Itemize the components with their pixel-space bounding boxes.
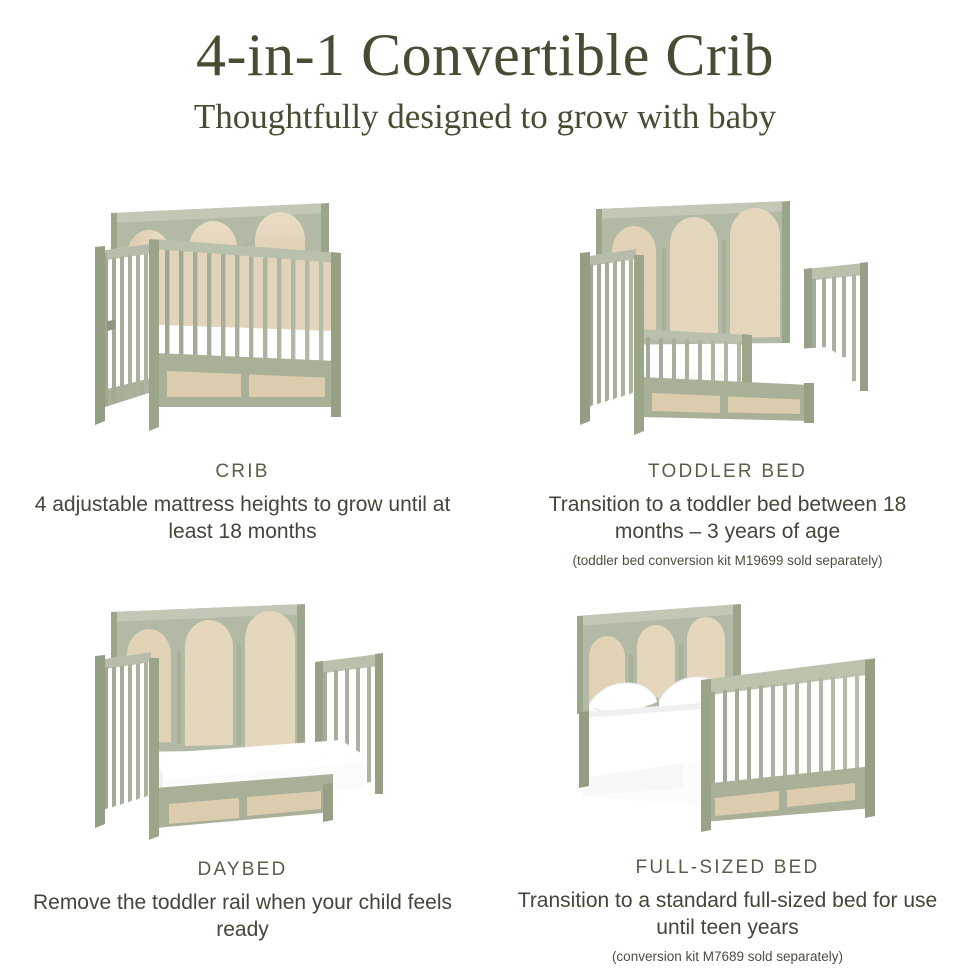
toddler-left-side-rail bbox=[582, 249, 636, 413]
description-full-sized-bed: Transition to a standard full-sized bed … bbox=[513, 887, 943, 941]
crib-illustration bbox=[93, 195, 393, 450]
full-sized-bed-illustration bbox=[563, 596, 893, 846]
note-full-sized-bed: (conversion kit M7689 sold separately) bbox=[513, 947, 943, 966]
header: 4-in-1 Convertible Crib Thoughtfully des… bbox=[0, 0, 970, 138]
daybed-figure bbox=[0, 586, 485, 848]
crib-figure bbox=[0, 188, 485, 450]
full-bed-footboard bbox=[701, 658, 875, 832]
configuration-grid: CRIB 4 adjustable mattress heights to gr… bbox=[0, 188, 970, 966]
description-crib: 4 adjustable mattress heights to grow un… bbox=[28, 491, 458, 545]
full-bed-legs bbox=[579, 711, 589, 788]
page-title: 4-in-1 Convertible Crib bbox=[0, 22, 970, 88]
note-toddler-bed: (toddler bed conversion kit M19699 sold … bbox=[513, 551, 943, 570]
description-toddler-bed: Transition to a toddler bed between 18 m… bbox=[513, 491, 943, 545]
label-daybed: DAYBED bbox=[28, 858, 458, 882]
toddler-bed-figure bbox=[485, 188, 970, 450]
config-cell-toddler-bed: TODDLER BED Transition to a toddler bed … bbox=[485, 188, 970, 586]
caption-full-sized-bed: FULL-SIZED BED Transition to a standard … bbox=[513, 856, 943, 966]
label-full-sized-bed: FULL-SIZED BED bbox=[513, 856, 943, 880]
caption-daybed: DAYBED Remove the toddler rail when your… bbox=[28, 858, 458, 943]
label-toddler-bed: TODDLER BED bbox=[513, 460, 943, 484]
description-daybed: Remove the toddler rail when your child … bbox=[28, 889, 458, 943]
crib-front-rail bbox=[153, 239, 339, 407]
infographic-page: 4-in-1 Convertible Crib Thoughtfully des… bbox=[0, 0, 970, 971]
config-cell-daybed: DAYBED Remove the toddler rail when your… bbox=[0, 586, 485, 966]
config-cell-crib: CRIB 4 adjustable mattress heights to gr… bbox=[0, 188, 485, 586]
daybed-illustration bbox=[93, 598, 393, 848]
page-subtitle: Thoughtfully designed to grow with baby bbox=[0, 96, 970, 138]
label-crib: CRIB bbox=[28, 460, 458, 484]
toddler-bed-illustration bbox=[578, 195, 878, 450]
caption-crib: CRIB 4 adjustable mattress heights to gr… bbox=[28, 460, 458, 545]
daybed-left-side-rail bbox=[97, 652, 151, 816]
full-sized-bed-figure bbox=[485, 586, 970, 846]
caption-toddler-bed: TODDLER BED Transition to a toddler bed … bbox=[513, 460, 943, 570]
crib-left-side-rail bbox=[97, 243, 155, 413]
config-cell-full-sized-bed: FULL-SIZED BED Transition to a standard … bbox=[485, 586, 970, 966]
